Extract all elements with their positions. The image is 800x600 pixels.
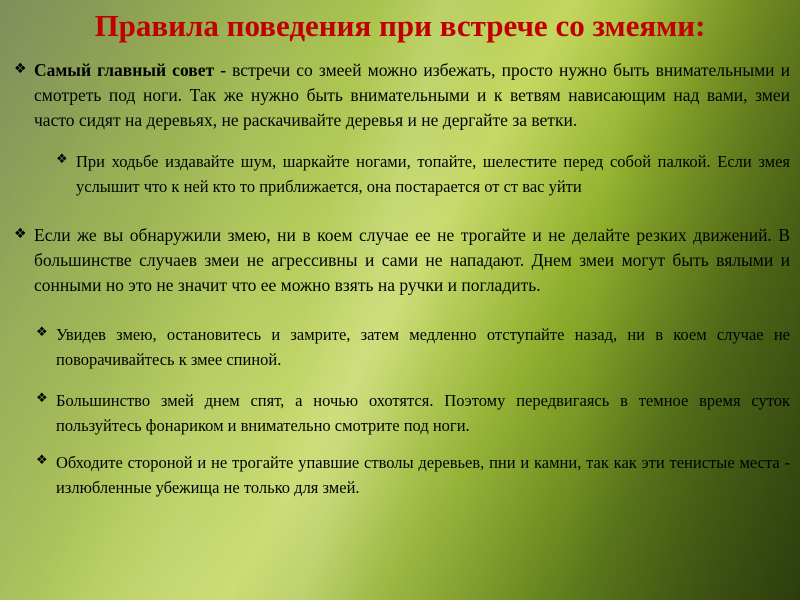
paragraph-lead-1: Самый главный совет - [34,60,226,80]
slide: Правила поведения при встрече со змеями:… [0,0,800,600]
paragraph-text-5: Большинство змей днем спят, а ночью охот… [56,388,790,438]
bullet-paragraph-4: ❖ Увидев змею, остановитесь и замрите, з… [36,322,790,372]
bullet-paragraph-6: ❖ Обходите стороной и не трогайте упавши… [36,450,790,500]
bullet-paragraph-5: ❖ Большинство змей днем спят, а ночью ох… [36,388,790,438]
paragraph-text-3: Если же вы обнаружили змею, ни в коем сл… [34,223,790,298]
bullet-paragraph-1: ❖ Самый главный совет - встречи со змеей… [14,58,790,133]
page-title: Правила поведения при встрече со змеями: [0,8,800,44]
bullet-marker-icon: ❖ [36,326,48,339]
bullet-marker-icon: ❖ [36,392,48,405]
bullet-marker-icon: ❖ [14,227,27,241]
paragraph-text-1: Самый главный совет - встречи со змеей м… [34,58,790,133]
bullet-paragraph-3: ❖ Если же вы обнаружили змею, ни в коем … [14,223,790,298]
paragraph-text-4: Увидев змею, остановитесь и замрите, зат… [56,322,790,372]
paragraph-text-2: При ходьбе издавайте шум, шаркайте ногам… [76,149,790,199]
bullet-marker-icon: ❖ [56,153,68,166]
bullet-marker-icon: ❖ [14,62,27,76]
paragraph-text-6: Обходите стороной и не трогайте упавшие … [56,450,790,500]
bullet-marker-icon: ❖ [36,454,48,467]
slide-body: ❖ Самый главный совет - встречи со змеей… [14,58,790,503]
bullet-paragraph-2: ❖ При ходьбе издавайте шум, шаркайте ног… [56,149,790,199]
